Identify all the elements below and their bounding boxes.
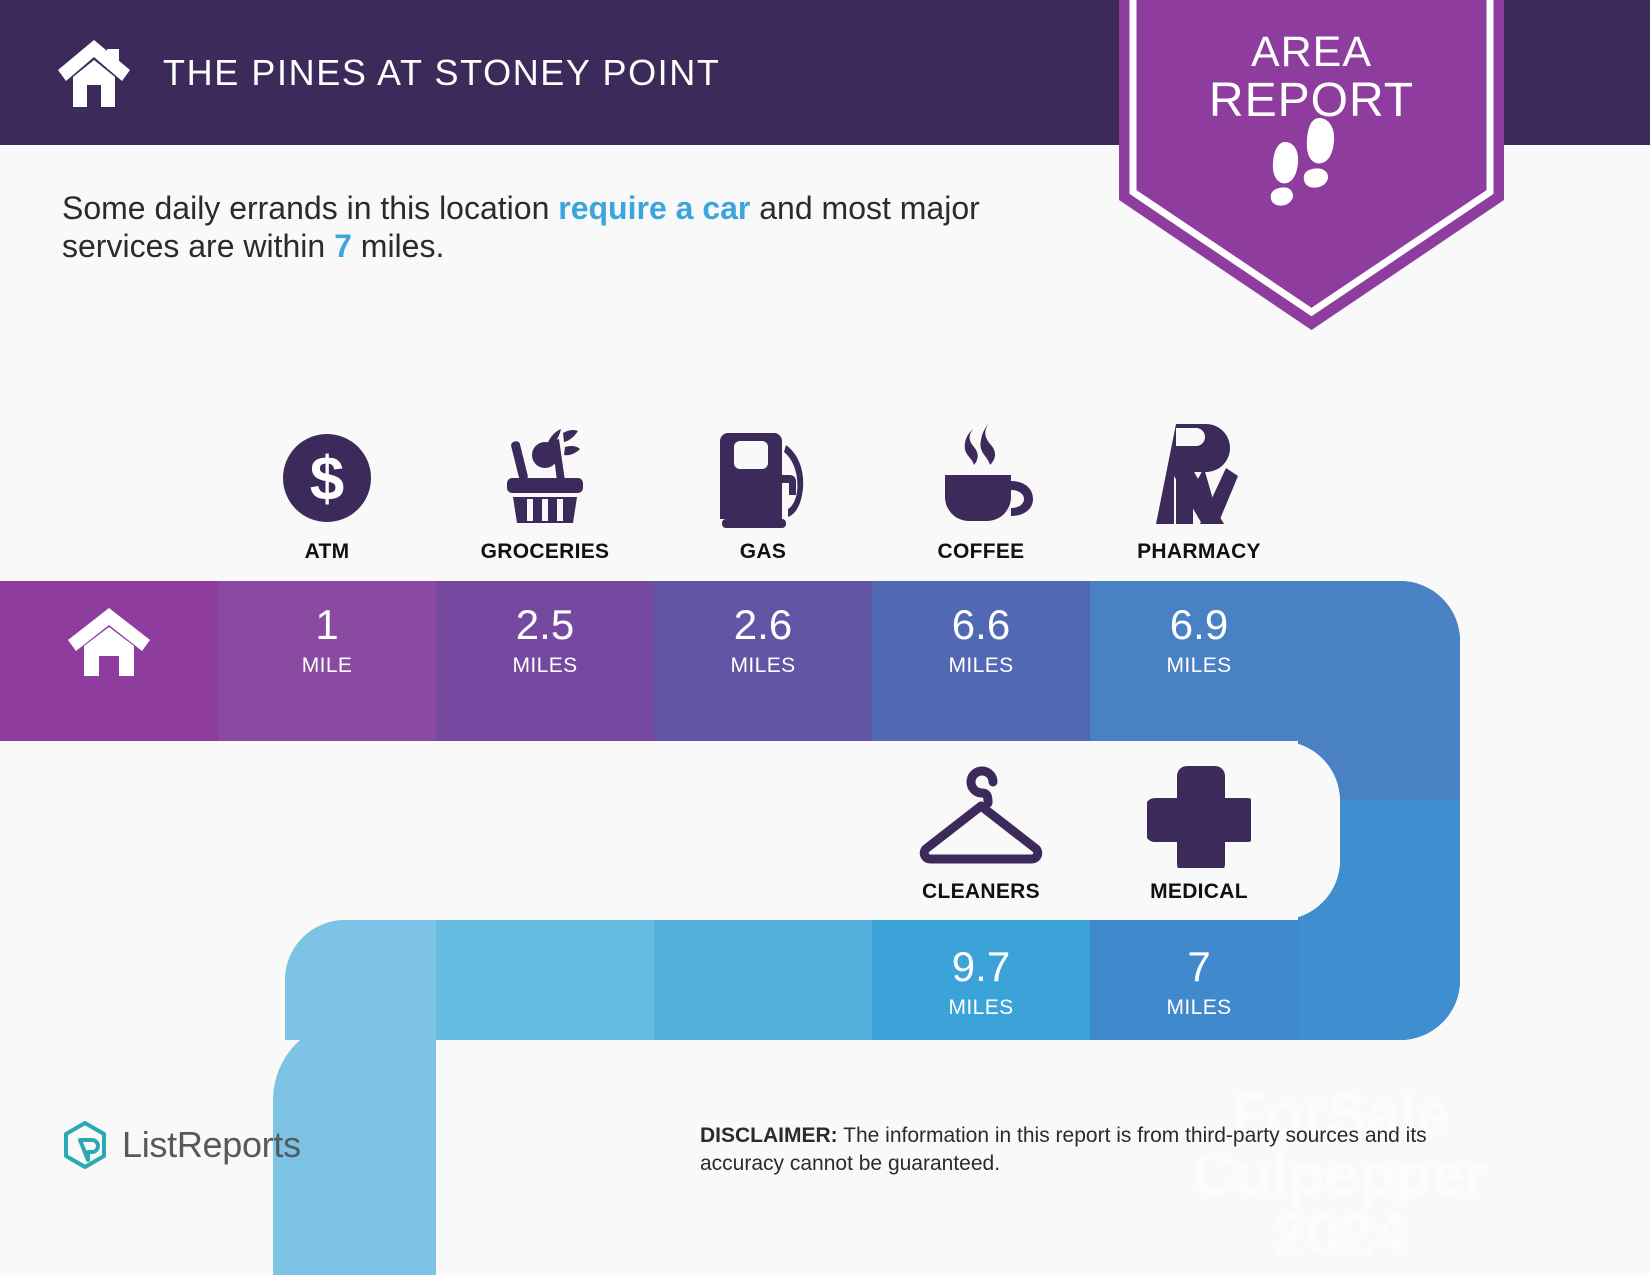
listreports-hex-home-icon	[62, 1120, 108, 1170]
spacer-cell	[218, 925, 436, 1040]
amenity-pharmacy[interactable]: PHARMACY	[1090, 420, 1308, 564]
distance-value: 6.9	[1170, 604, 1228, 646]
svg-text:$: $	[310, 445, 344, 514]
disclaimer: DISCLAIMER: The information in this repo…	[700, 1122, 1510, 1178]
listreports-logo-text: ListReports	[122, 1124, 301, 1166]
area-report-badge: AREA REPORT	[1119, 0, 1504, 330]
distance-cell-atm: 1 MILE	[218, 583, 436, 698]
amenity-groceries[interactable]: GROCERIES	[436, 420, 654, 564]
spacer-cell	[218, 760, 436, 904]
area-report-page: THE PINES AT STONEY POINT AREA REPORT So…	[0, 0, 1650, 1275]
distance-values-row-2: 9.7 MILES 7 MILES	[0, 925, 1650, 1040]
amenity-label: CLEANERS	[922, 880, 1040, 904]
rx-pharmacy-icon	[1144, 420, 1254, 528]
disclaimer-label: DISCLAIMER:	[700, 1124, 838, 1147]
subtitle: Some daily errands in this location requ…	[62, 190, 1082, 266]
distance-value: 9.7	[952, 946, 1010, 988]
subtitle-part-1: Some daily errands in this location	[62, 190, 558, 226]
amenity-coffee[interactable]: COFFEE	[872, 420, 1090, 564]
subtitle-part-3: miles.	[352, 228, 444, 264]
dollar-circle-icon: $	[277, 420, 377, 528]
amenity-atm[interactable]: $ ATM	[218, 420, 436, 564]
hanger-icon	[911, 760, 1051, 868]
amenity-medical[interactable]: MEDICAL	[1090, 760, 1308, 904]
home-icon	[55, 37, 133, 109]
listreports-logo[interactable]: ListReports	[62, 1120, 301, 1170]
amenity-label: MEDICAL	[1150, 880, 1248, 904]
subtitle-highlight-2: 7	[334, 228, 352, 264]
amenity-label: GAS	[740, 540, 786, 564]
distance-unit: MILE	[302, 654, 353, 678]
distance-cell-gas: 2.6 MILES	[654, 583, 872, 698]
distance-value: 6.6	[952, 604, 1010, 646]
distance-unit: MILES	[512, 654, 577, 678]
spacer-cell	[0, 420, 218, 564]
distance-unit: MILES	[730, 654, 795, 678]
amenity-icon-row-1: $ ATM	[0, 420, 1650, 564]
spacer-cell	[436, 760, 654, 904]
distance-cell-groceries: 2.5 MILES	[436, 583, 654, 698]
distance-unit: MILES	[1166, 996, 1231, 1020]
amenity-label: PHARMACY	[1137, 540, 1261, 564]
distance-values-row-1: 1 MILE 2.5 MILES 2.6 MILES 6.6 MILES 6.9…	[0, 583, 1650, 698]
amenity-label: ATM	[305, 540, 350, 564]
spacer-cell	[0, 760, 218, 904]
amenity-label: COFFEE	[938, 540, 1025, 564]
grocery-basket-icon	[485, 420, 605, 528]
page-title: THE PINES AT STONEY POINT	[163, 52, 720, 94]
spacer-cell	[0, 925, 218, 1040]
distance-unit: MILES	[1166, 654, 1231, 678]
spacer-cell	[654, 760, 872, 904]
amenity-gas[interactable]: GAS	[654, 420, 872, 564]
distance-cell-pharmacy: 6.9 MILES	[1090, 583, 1308, 698]
distance-unit: MILES	[948, 996, 1013, 1020]
home-marker-cell	[0, 583, 218, 698]
spacer-cell	[654, 925, 872, 1040]
coffee-cup-icon	[921, 420, 1041, 528]
medical-cross-icon	[1147, 760, 1251, 868]
spacer-cell	[436, 925, 654, 1040]
distance-cell-cleaners: 9.7 MILES	[872, 925, 1090, 1040]
amenity-label: GROCERIES	[481, 540, 610, 564]
amenity-icon-row-2: CLEANERS MEDICAL	[0, 760, 1650, 904]
gas-pump-icon	[708, 420, 818, 528]
amenity-cleaners[interactable]: CLEANERS	[872, 760, 1090, 904]
distance-value: 2.5	[516, 604, 574, 646]
home-icon	[66, 606, 152, 676]
subtitle-highlight-1: require a car	[558, 190, 750, 226]
distance-cell-coffee: 6.6 MILES	[872, 583, 1090, 698]
distance-value: 1	[315, 604, 338, 646]
distance-value: 2.6	[734, 604, 792, 646]
distance-cell-medical: 7 MILES	[1090, 925, 1308, 1040]
distance-value: 7	[1187, 946, 1210, 988]
distance-unit: MILES	[948, 654, 1013, 678]
